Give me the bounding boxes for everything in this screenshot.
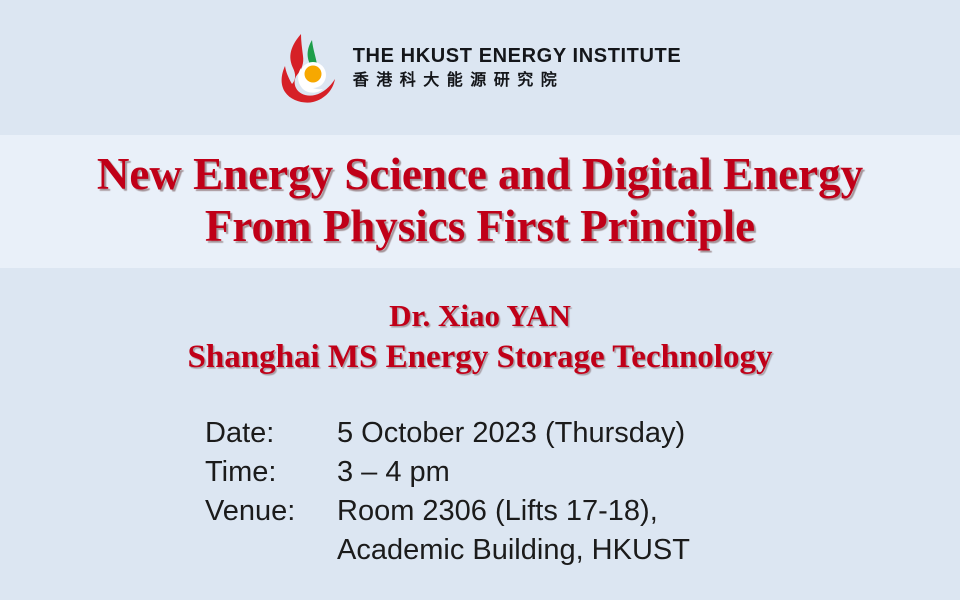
detail-value-time: 3 – 4 pm — [337, 453, 450, 492]
institute-name-chinese: 香港科大能源研究院 — [353, 70, 682, 90]
detail-value-venue-line-2: Academic Building, HKUST — [337, 531, 690, 570]
detail-label-date: Date: — [205, 414, 337, 453]
detail-row-venue: Venue: Room 2306 (Lifts 17-18), — [205, 492, 905, 531]
speaker-name: Dr. Xiao YAN — [0, 296, 960, 336]
detail-row-time: Time: 3 – 4 pm — [205, 453, 905, 492]
institute-logo-lockup: THE HKUST ENERGY INSTITUTE 香港科大能源研究院 — [279, 32, 682, 104]
detail-label-time: Time: — [205, 453, 337, 492]
institute-logo-text: THE HKUST ENERGY INSTITUTE 香港科大能源研究院 — [353, 45, 682, 90]
speaker-block: Dr. Xiao YAN Shanghai MS Energy Storage … — [0, 296, 960, 378]
event-details: Date: 5 October 2023 (Thursday) Time: 3 … — [205, 414, 905, 570]
seminar-title: New Energy Science and Digital Energy Fr… — [0, 148, 960, 252]
hkust-energy-flame-logo-icon — [279, 32, 339, 104]
speaker-affiliation: Shanghai MS Energy Storage Technology — [0, 336, 960, 378]
detail-row-date: Date: 5 October 2023 (Thursday) — [205, 414, 905, 453]
seminar-poster: THE HKUST ENERGY INSTITUTE 香港科大能源研究院 New… — [0, 0, 960, 600]
detail-value-date: 5 October 2023 (Thursday) — [337, 414, 685, 453]
poster-header: THE HKUST ENERGY INSTITUTE 香港科大能源研究院 — [0, 0, 960, 135]
seminar-title-line-2: From Physics First Principle — [0, 200, 960, 252]
detail-label-venue: Venue: — [205, 492, 337, 531]
detail-value-venue: Room 2306 (Lifts 17-18), — [337, 492, 658, 531]
seminar-title-line-1: New Energy Science and Digital Energy — [0, 148, 960, 200]
institute-name-english: THE HKUST ENERGY INSTITUTE — [353, 45, 682, 67]
detail-row-venue-continued: Academic Building, HKUST — [205, 531, 905, 570]
